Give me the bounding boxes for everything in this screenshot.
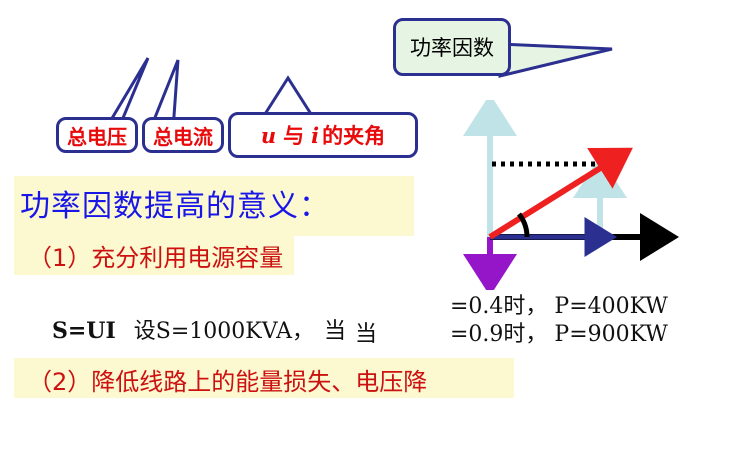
formula-result-2: =0.9时， P=900KW (450, 316, 668, 348)
tail-power-factor (500, 44, 612, 76)
callout-total-current[interactable]: 总电流 (142, 117, 224, 153)
page-title: 功率因数提高的意义： (20, 181, 330, 225)
callout-power-factor[interactable]: 功率因数 (393, 18, 511, 76)
variable-i: i (311, 123, 319, 148)
callout-total-current-label: 总电流 (153, 121, 213, 150)
red-resultant-arrow-icon (490, 162, 610, 237)
variable-u: u (261, 123, 276, 148)
callout-total-voltage-label: 总电压 (67, 121, 127, 150)
phasor-diagram (455, 100, 690, 290)
formula-assumption: 设S=1000KVA， (134, 319, 314, 344)
formula-line-1: S=UI设S=1000KVA，当 (24, 288, 346, 370)
list-item-2: （2）降低线路上的能量损失、电压降 (28, 362, 427, 397)
slide-canvas: 功率因数 总电压 总电流 u 与 i 的夹角 功率因数提高的意义： （1）充分利… (0, 0, 750, 450)
angle-callout-between: 与 (283, 120, 304, 150)
callout-total-voltage[interactable]: 总电压 (56, 117, 138, 153)
formula-when-1: 当 (324, 319, 346, 344)
list-item-1: （1）充分利用电源容量 (28, 238, 283, 273)
callout-angle-between-u-and-i[interactable]: u 与 i 的夹角 (228, 112, 418, 158)
formula-lead: S=UI (52, 318, 116, 344)
formula-line-2-when: 当 (355, 316, 377, 348)
callout-power-factor-label: 功率因数 (410, 32, 494, 62)
angle-callout-suffix: 的夹角 (322, 120, 385, 150)
